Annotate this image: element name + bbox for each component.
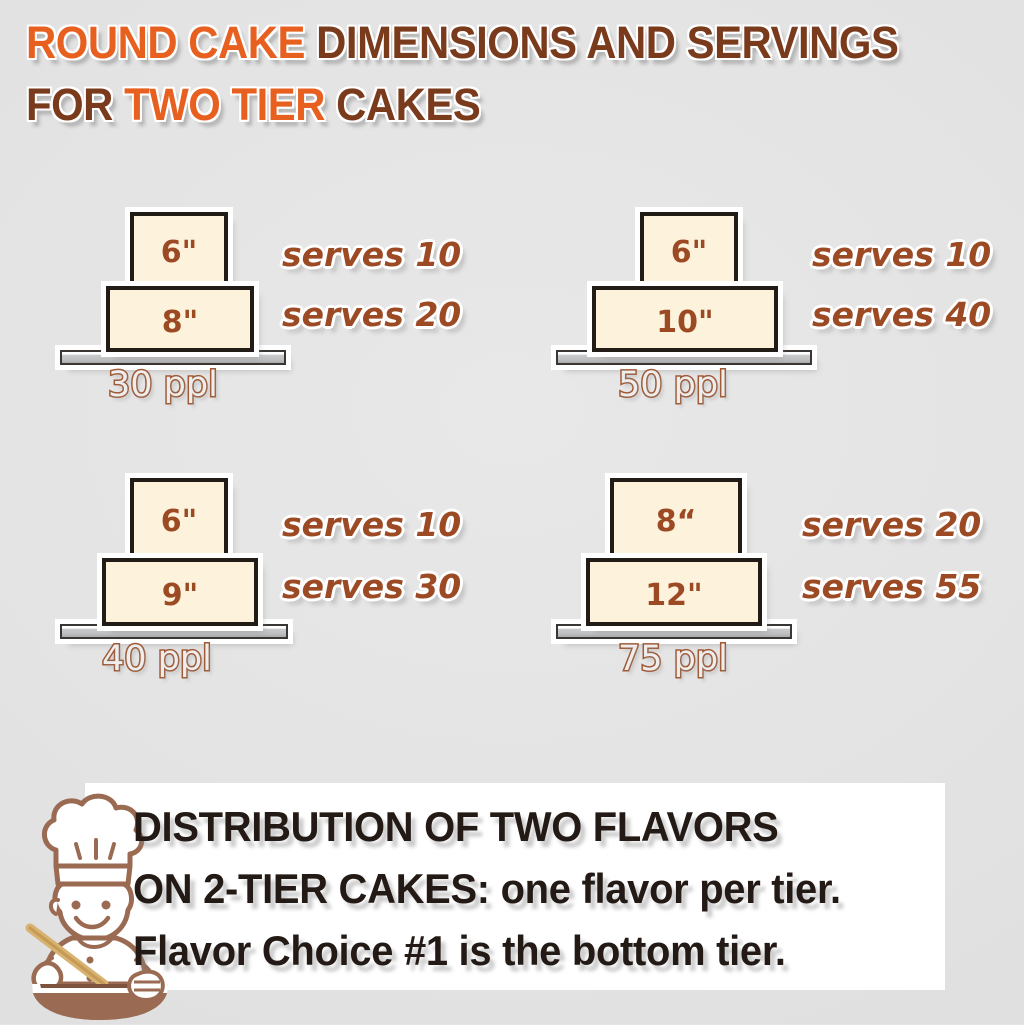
title-line-1-rest: DIMENSIONS AND SERVINGS [316,17,898,68]
cake-top-tier-label: 6" [161,238,198,268]
page-title: ROUND CAKE DIMENSIONS AND SERVINGS FOR T… [26,12,1006,136]
cake-total-people-label: 30 ppl [108,368,218,403]
cake-plate [60,350,286,365]
cake-plate [60,624,288,639]
cake-diagram-6-9: 6" 9" 40 ppl serves 10 serves 30 [60,478,520,688]
cake-top-serves-label: serves 20 [802,508,981,541]
cake-bottom-tier-label: 9" [162,581,199,611]
cake-total-people-label: 75 ppl [618,642,728,677]
cake-bottom-serves-label: serves 20 [282,298,461,331]
cake-bottom-serves-label: serves 30 [282,570,461,603]
cake-plate [556,624,792,639]
cake-bottom-tier-label: 8" [162,308,199,338]
footer-line-1: DISTRIBUTION OF TWO FLAVORS [133,796,912,858]
cake-top-tier: 8“ [610,478,742,562]
cake-bottom-tier: 10" [592,286,778,352]
title-line-1-highlight: ROUND CAKE [26,17,316,68]
cake-top-tier: 6" [130,212,228,290]
cake-bottom-tier: 12" [586,558,762,626]
cake-bottom-tier-label: 10" [656,308,713,338]
cake-top-tier-label: 6" [671,238,708,268]
cake-bottom-serves-label: serves 55 [802,570,981,603]
cake-bottom-tier: 8" [106,286,254,352]
footer-line-2: ON 2-TIER CAKES: one flavor per tier. [133,858,912,920]
cake-total-people-label: 40 ppl [102,642,212,677]
footer-line-3: Flavor Choice #1 is the bottom tier. [133,920,912,982]
cake-top-serves-label: serves 10 [282,508,461,541]
cake-bottom-tier-label: 12" [645,581,702,611]
cake-total-people-label: 50 ppl [618,368,728,403]
cake-diagram-6-8: 6" 8" 30 ppl serves 10 serves 20 [60,212,520,412]
title-line-2-highlight: TWO TIER [124,79,336,130]
cake-top-tier-label: 8“ [656,507,697,537]
cake-top-tier-label: 6" [161,507,198,537]
cake-top-tier: 6" [130,478,228,562]
title-line-2-pre: FOR [26,79,124,130]
footer-text: DISTRIBUTION OF TWO FLAVORS ON 2-TIER CA… [133,796,912,982]
cake-top-tier: 6" [640,212,738,290]
title-line-2: FOR TWO TIER CAKES [26,74,937,136]
infographic-canvas: ROUND CAKE DIMENSIONS AND SERVINGS FOR T… [0,0,1024,1024]
title-line-2-post: CAKES [336,79,480,130]
title-line-1: ROUND CAKE DIMENSIONS AND SERVINGS [26,12,937,74]
cake-diagram-8-12: 8“ 12" 75 ppl serves 20 serves 55 [556,478,1024,688]
cake-top-serves-label: serves 10 [812,238,991,271]
cake-diagram-6-10: 6" 10" 50 ppl serves 10 serves 40 [556,212,1024,412]
cake-plate [556,350,812,365]
cake-bottom-serves-label: serves 40 [812,298,991,331]
cake-top-serves-label: serves 10 [282,238,461,271]
cake-bottom-tier: 9" [102,558,258,626]
